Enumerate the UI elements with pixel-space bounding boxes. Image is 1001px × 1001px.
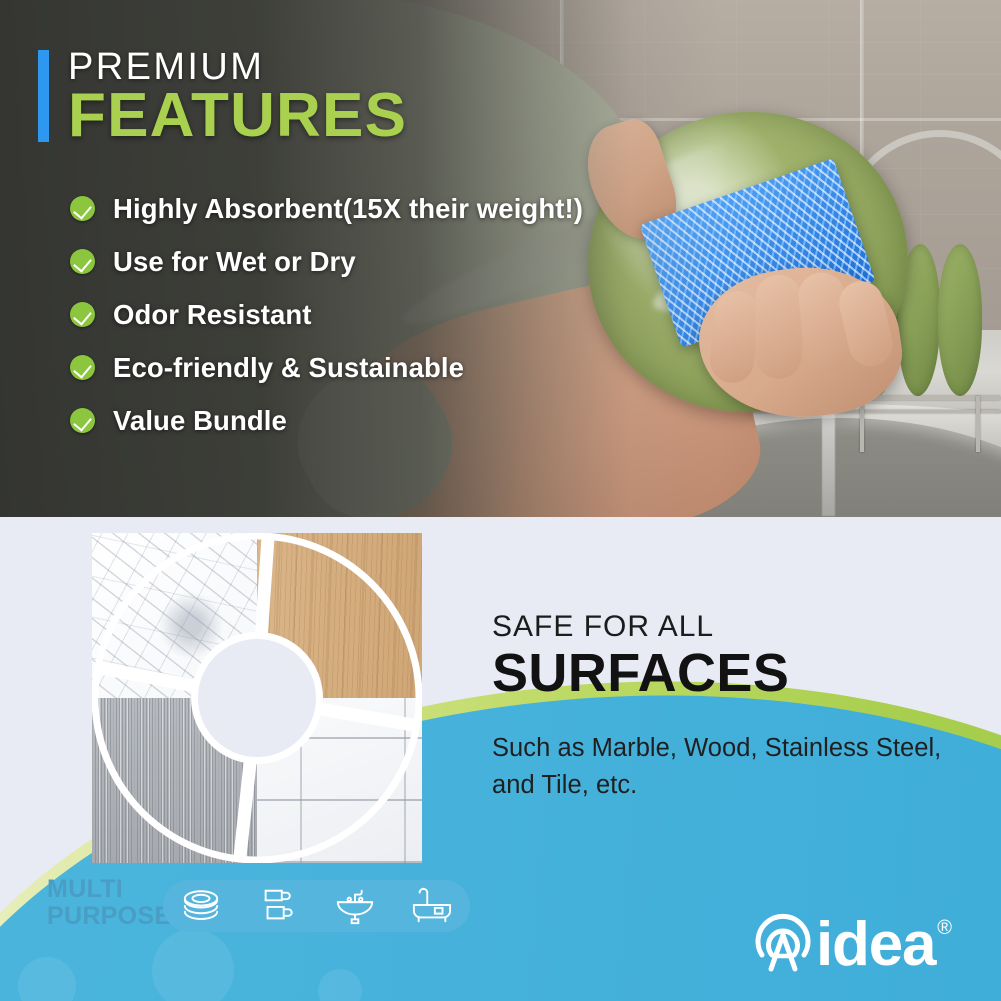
feature-label: Eco-friendly & Sustainable — [113, 352, 464, 384]
registered-trademark-symbol: ® — [937, 917, 952, 940]
surfaces-section: SAFE FOR ALL SURFACES Such as Marble, Wo… — [0, 517, 1001, 1001]
multi-purpose-label-line2: PURPOSE — [47, 903, 171, 930]
multi-purpose-label-line1: MULTI — [47, 876, 171, 903]
surfaces-copy: SAFE FOR ALL SURFACES Such as Marble, Wo… — [492, 610, 962, 804]
brand-name: idea — [816, 916, 935, 973]
list-item: Odor Resistant — [70, 288, 583, 341]
check-circle-icon — [70, 355, 95, 380]
feature-label: Highly Absorbent(15X their weight!) — [113, 193, 583, 225]
brand-logo: idea ® — [752, 911, 952, 973]
donut-center-hole — [198, 639, 316, 757]
surfaces-title: SURFACES — [492, 642, 962, 704]
feature-label: Odor Resistant — [113, 299, 312, 331]
check-circle-icon — [70, 408, 95, 433]
multi-purpose-label: MULTI PURPOSE — [47, 876, 171, 930]
list-item: Use for Wet or Dry — [70, 235, 583, 288]
stacked-plates-icon — [178, 886, 224, 926]
page-title: FEATURES — [68, 80, 407, 151]
surfaces-donut-chart — [92, 533, 422, 863]
aidea-circle-a-logo-icon — [752, 911, 814, 973]
bathtub-icon — [409, 886, 455, 926]
list-item: Value Bundle — [70, 394, 583, 447]
feature-label: Value Bundle — [113, 405, 287, 437]
surfaces-description: Such as Marble, Wood, Stainless Steel, a… — [492, 730, 962, 804]
accent-bar — [38, 50, 49, 142]
hero-photo: PREMIUM FEATURES Highly Absorbent(15X th… — [0, 0, 1001, 517]
feature-list: Highly Absorbent(15X their weight!) Use … — [70, 182, 583, 447]
multi-purpose-icon-pill — [163, 880, 470, 932]
cups-icon — [255, 886, 301, 926]
list-item: Highly Absorbent(15X their weight!) — [70, 182, 583, 235]
feature-label: Use for Wet or Dry — [113, 246, 356, 278]
decorative-bubble — [152, 929, 234, 1001]
check-circle-icon — [70, 302, 95, 327]
surfaces-eyebrow: SAFE FOR ALL — [492, 610, 962, 644]
check-circle-icon — [70, 196, 95, 221]
check-circle-icon — [70, 249, 95, 274]
list-item: Eco-friendly & Sustainable — [70, 341, 583, 394]
sink-icon — [332, 886, 378, 926]
